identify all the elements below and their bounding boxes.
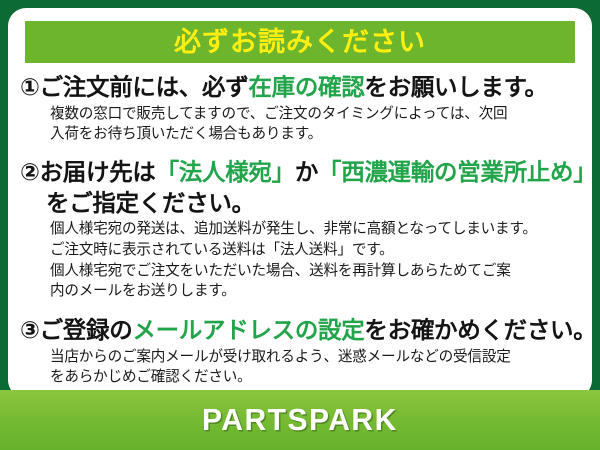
item-3-heading: ③ご登録のメールアドレスの設定をお確かめください。 [20, 315, 582, 346]
page-title: 必ずお読みください [174, 29, 426, 56]
item-1-heading-highlight: 在庫の確認 [248, 73, 364, 101]
item-1-heading: ①ご注文前には、必ず在庫の確認をお願いします。 [20, 72, 582, 103]
item-3-description: 当店からのご案内メールが受け取れるよう、迷惑メールなどの受信設定 をあらかじめご… [20, 347, 582, 388]
footer-bar: PARTSPARK [0, 390, 600, 450]
item-2-heading-part-3: か [295, 158, 318, 186]
item-2-heading-line-2: をご指定ください。 [20, 188, 582, 219]
item-2-heading-part-1: お届け先は [40, 158, 156, 186]
brand-logo: PARTSPARK [202, 402, 398, 438]
list-item: ③ご登録のメールアドレスの設定をお確かめください。 当店からのご案内メールが受け… [20, 315, 582, 388]
item-1-heading-part-1: ご注文前には、必ず [40, 73, 249, 101]
item-2-heading-highlight-2: 「西濃運輸の営業所止め」 [318, 158, 592, 186]
item-3-marker: ③ [20, 316, 40, 344]
list-item: ①ご注文前には、必ず在庫の確認をお願いします。 複数の窓口で販売してますので、ご… [20, 72, 582, 145]
notice-items-list: ①ご注文前には、必ず在庫の確認をお願いします。 複数の窓口で販売してますので、ご… [8, 70, 592, 392]
item-2-marker: ② [20, 158, 40, 186]
item-3-heading-highlight: メールアドレスの設定 [132, 316, 364, 344]
item-1-marker: ① [20, 73, 40, 101]
content-panel: 必ずお読みください ①ご注文前には、必ず在庫の確認をお願いします。 複数の窓口で… [8, 8, 592, 398]
item-1-heading-part-3: をお願いします。 [364, 73, 547, 101]
header-bar: 必ずお読みください [25, 21, 575, 63]
list-item: ②お届け先は「法人様宛」か「西濃運輸の営業所止め」 をご指定ください。 個人様宅… [20, 157, 582, 302]
item-2-description: 個人様宅宛の発送は、追加送料が発生し、非常に高額となってしまいます。 ご注文時に… [20, 219, 582, 302]
item-2-heading: ②お届け先は「法人様宛」か「西濃運輸の営業所止め」 [20, 157, 582, 188]
item-3-heading-part-1: ご登録の [40, 316, 133, 344]
item-3-heading-part-3: をお確かめください。 [364, 316, 592, 344]
item-1-description: 複数の窓口で販売してますので、ご注文のタイミングによっては、次回 入荷をお待ち頂… [20, 104, 582, 145]
item-2-heading-highlight-1: 「法人様宛」 [156, 158, 295, 186]
notice-banner: 必ずお読みください ①ご注文前には、必ず在庫の確認をお願いします。 複数の窓口で… [0, 0, 600, 450]
